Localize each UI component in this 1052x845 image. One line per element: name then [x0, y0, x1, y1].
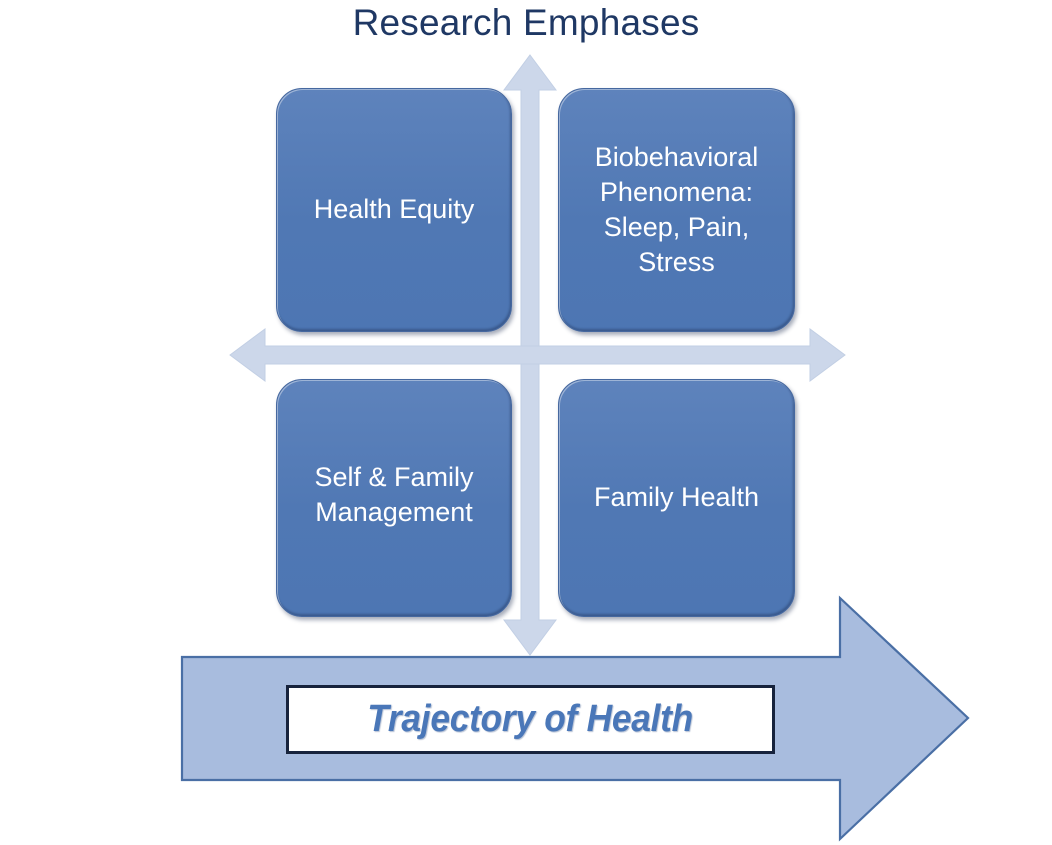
- trajectory-label-box: Trajectory of Health: [286, 685, 775, 754]
- quadrant-label-health-equity: Health Equity: [304, 192, 485, 227]
- quadrant-label-family-health: Family Health: [584, 480, 769, 515]
- quadrant-label-self-family-management: Self & Family Management: [304, 460, 483, 530]
- quadrant-box-self-family-management[interactable]: Self & Family Management: [276, 379, 512, 617]
- quadrant-box-family-health[interactable]: Family Health: [558, 379, 795, 617]
- quadrant-box-biobehavioral[interactable]: Biobehavioral Phenomena: Sleep, Pain, St…: [558, 88, 795, 332]
- quadrant-label-biobehavioral: Biobehavioral Phenomena: Sleep, Pain, St…: [585, 140, 769, 280]
- page-title: Research Emphases: [0, 2, 1052, 44]
- trajectory-label: Trajectory of Health: [368, 698, 694, 741]
- quadrant-box-health-equity[interactable]: Health Equity: [276, 88, 512, 332]
- diagram-canvas: Research Emphases Health Equity Biobehav…: [0, 0, 1052, 845]
